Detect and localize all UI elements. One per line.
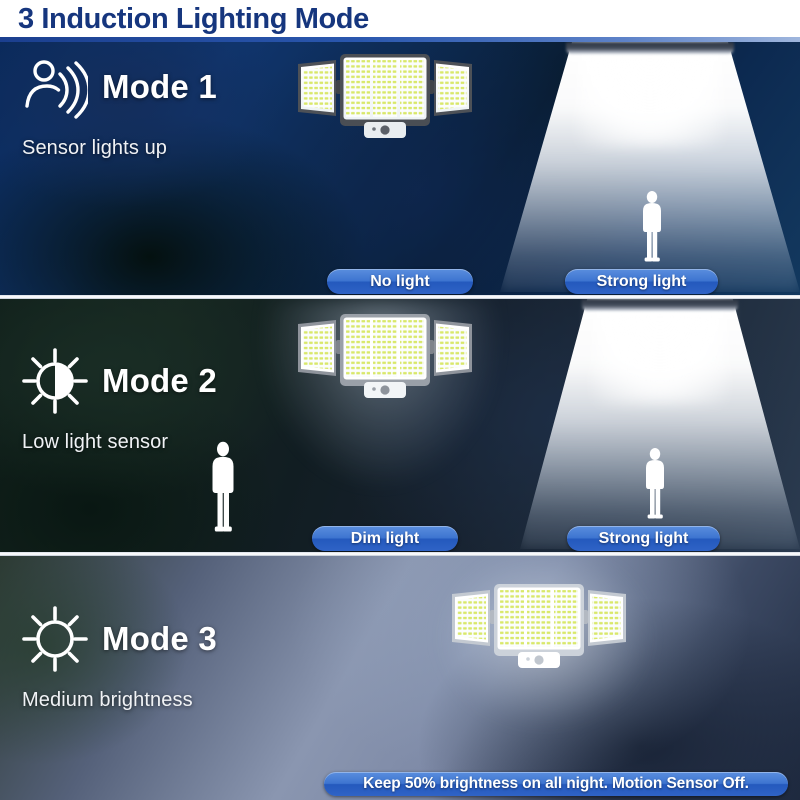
light-hotspot <box>593 299 727 404</box>
mode-3-title: Mode 3 <box>102 620 217 658</box>
sun-outline-icon <box>22 606 88 672</box>
badge-strong-light-mode-2: Strong light <box>567 526 720 551</box>
led-fixture-mode-1 <box>296 48 474 146</box>
mode-3-subtitle: Medium brightness <box>22 689 217 712</box>
mode-2-title: Mode 2 <box>102 362 217 400</box>
person-silhouette-lit-mode-1 <box>637 190 667 262</box>
mode-2-info: Mode 2 Low light sensor <box>22 348 217 454</box>
half-brightness-sun-icon <box>22 348 88 414</box>
page-title: 3 Induction Lighting Mode <box>18 3 369 36</box>
badge-no-light: No light <box>327 269 473 294</box>
mode-1-info: Mode 1 Sensor lights up <box>22 54 217 160</box>
badge-strong-light-mode-1: Strong light <box>565 269 718 294</box>
mode-1-title: Mode 1 <box>102 68 217 106</box>
led-fixture-mode-3 <box>450 578 628 676</box>
footer-note-badge: Keep 50% brightness on all night. Motion… <box>324 772 788 796</box>
ceiling-lamp-bar <box>582 299 739 311</box>
motion-sensor-icon <box>22 54 88 120</box>
ceiling-lamp-bar <box>566 42 734 54</box>
header-divider-rule <box>0 37 800 42</box>
section-divider-1 <box>0 295 800 299</box>
mode-3-info: Mode 3 Medium brightness <box>22 606 217 712</box>
badge-dim-light: Dim light <box>312 526 458 551</box>
section-divider-2 <box>0 552 800 556</box>
person-silhouette-lit-mode-2 <box>640 447 670 519</box>
light-hotspot <box>578 42 722 147</box>
product-infographic: 3 Induction Lighting Mode <box>0 0 800 800</box>
mode-1-subtitle: Sensor lights up <box>22 137 217 160</box>
led-fixture-mode-2 <box>296 308 474 406</box>
mode-2-subtitle: Low light sensor <box>22 431 217 454</box>
header-bar: 3 Induction Lighting Mode <box>0 0 800 42</box>
